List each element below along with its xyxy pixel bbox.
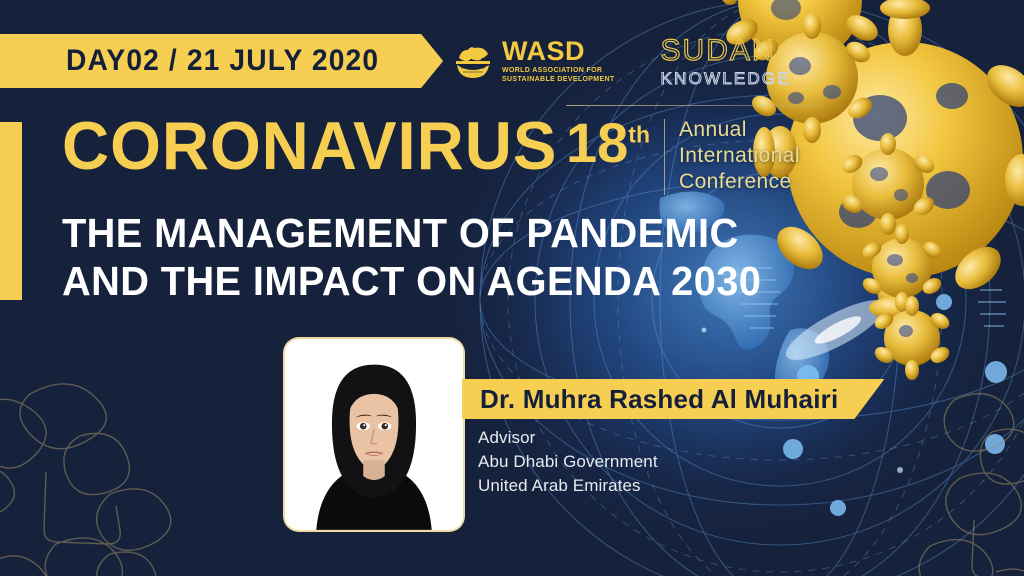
page-subtitle: THE MANAGEMENT OF PANDEMIC AND THE IMPAC… bbox=[62, 210, 761, 305]
speaker-organization: Abu Dhabi Government bbox=[478, 450, 658, 474]
wasd-tagline-line1: WORLD ASSOCIATION FOR bbox=[502, 67, 615, 76]
speaker-country: United Arab Emirates bbox=[478, 474, 658, 498]
edition-divider bbox=[664, 119, 665, 195]
subtitle-line-1: THE MANAGEMENT OF PANDEMIC bbox=[62, 210, 761, 258]
conference-title-slide: DAY02 / 21 JULY 2020 WASD WORLD ASS bbox=[0, 0, 1024, 576]
edition-line-1: Annual bbox=[679, 117, 800, 143]
edition-line-2: International bbox=[679, 143, 800, 169]
wasd-logo: WASD WORLD ASSOCIATION FOR SUSTAINABLE D… bbox=[452, 38, 615, 85]
edition-block: 18th Annual International Conference bbox=[566, 116, 800, 195]
speaker-photo bbox=[283, 337, 465, 532]
sudan-logo-line1: SUDAN bbox=[661, 36, 791, 66]
logo-divider-line bbox=[566, 105, 824, 106]
virus-particle-small-3 bbox=[860, 224, 944, 312]
edition-number-value: 18 bbox=[566, 111, 628, 174]
edition-line-3: Conference bbox=[679, 169, 800, 195]
page-title: CORONAVIRUS bbox=[62, 112, 557, 180]
speaker-affiliation: Advisor Abu Dhabi Government United Arab… bbox=[478, 426, 658, 498]
wasd-tagline-line2: SUSTAINABLE DEVELOPMENT bbox=[502, 76, 615, 85]
edition-number: 18th bbox=[566, 116, 650, 171]
speaker-role: Advisor bbox=[478, 426, 658, 450]
speaker-name: Dr. Muhra Rashed Al Muhairi bbox=[480, 384, 838, 415]
speaker-name-banner: Dr. Muhra Rashed Al Muhairi bbox=[462, 379, 884, 419]
virus-particle-small-4 bbox=[872, 296, 952, 380]
day-date-banner: DAY02 / 21 JULY 2020 bbox=[0, 34, 443, 88]
leaf-bowl-icon bbox=[452, 41, 494, 83]
edition-ordinal: th bbox=[628, 121, 650, 147]
logo-group: WASD WORLD ASSOCIATION FOR SUSTAINABLE D… bbox=[452, 36, 791, 87]
sudan-logo-line2: KNOWLEDGE bbox=[661, 70, 791, 87]
wasd-logo-name: WASD bbox=[502, 38, 615, 65]
sudan-knowledge-logo: SUDAN KNOWLEDGE bbox=[661, 36, 791, 87]
subtitle-line-2: AND THE IMPACT ON AGENDA 2030 bbox=[62, 258, 761, 306]
day-date-label: DAY02 / 21 JULY 2020 bbox=[66, 44, 379, 78]
left-accent-bar bbox=[0, 122, 22, 300]
decorative-doodle-bottom-left bbox=[0, 376, 220, 576]
speaker-portrait-illustration bbox=[285, 339, 463, 530]
virus-particle-small-2 bbox=[838, 133, 937, 235]
decorative-doodle-bottom-right bbox=[834, 386, 1024, 576]
